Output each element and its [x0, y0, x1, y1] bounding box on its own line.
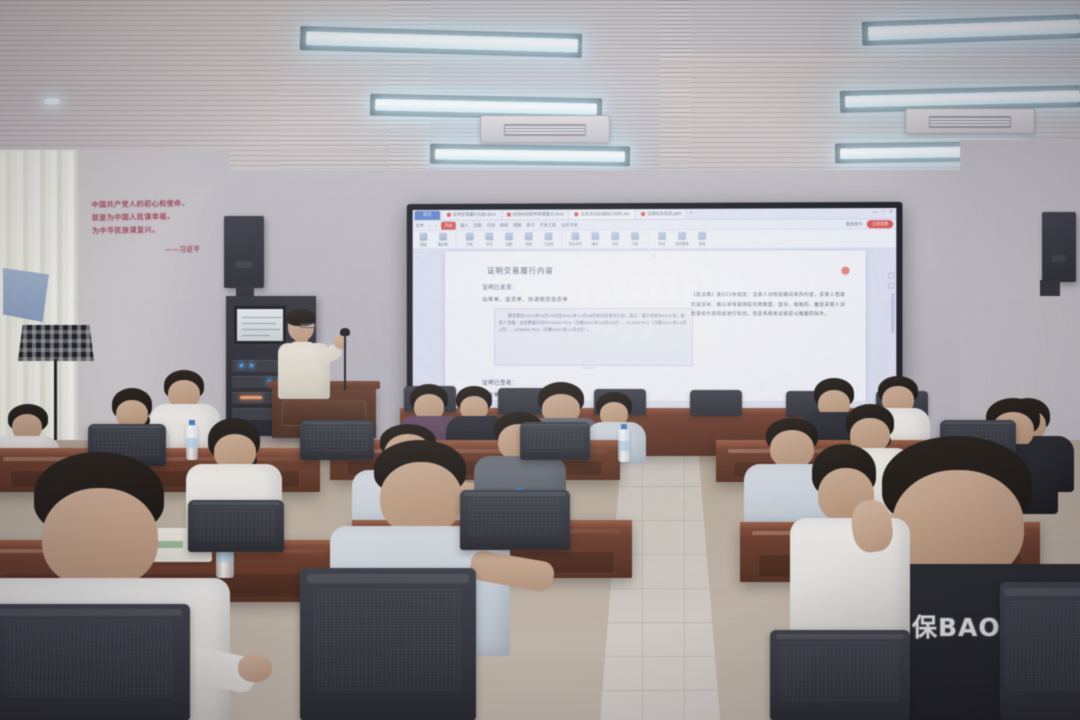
- audience-chair: [770, 630, 910, 720]
- font-icon: [466, 233, 474, 241]
- ribbon-button-styles[interactable]: 样式: [655, 232, 669, 246]
- ceiling-downlight: [44, 98, 60, 105]
- presenter: [276, 311, 338, 395]
- document-scrollbar[interactable]: [891, 293, 894, 333]
- comment-marker-icon[interactable]: [841, 267, 849, 275]
- paste-icon: [420, 233, 428, 241]
- ribbon-button-bullets[interactable]: 项目符号: [568, 232, 582, 246]
- audience-chair: [460, 490, 570, 550]
- wall-slogan: 中国共产党人的初心和使命， 就是为中国人民谋幸福， 为中华民族谋复兴。 ——习近…: [91, 197, 200, 258]
- side-display-panel: [3, 268, 49, 322]
- ribbon-button-numbering[interactable]: 编号: [588, 232, 602, 246]
- microphone-stand: [344, 332, 346, 390]
- app-home-tab[interactable]: 首页: [415, 210, 440, 219]
- menu-item-member[interactable]: 会员专享: [561, 222, 578, 228]
- format-painter-icon: [439, 233, 447, 241]
- doc-tab-icon: [641, 212, 645, 216]
- side-tool-icon[interactable]: [888, 283, 894, 289]
- menu-item-home[interactable]: 开始: [441, 221, 455, 229]
- wall-slogan-signature: ——习近平: [92, 243, 200, 258]
- underline-icon: [545, 232, 553, 240]
- font-size-icon: [485, 233, 493, 241]
- doc-tab[interactable]: 法律实务培训.pptx: [637, 209, 685, 218]
- app-ribbon: 粘贴 格式刷 字体 字号 加粗: [413, 229, 897, 249]
- section-1-body: 原告提交2021年10月29日至2021年11月18日的出库单共九份，显示：客户…: [495, 309, 692, 334]
- menu-item-nav-back[interactable]: ‹: [429, 223, 430, 228]
- menu-item-reference[interactable]: 引用: [487, 222, 495, 228]
- ribbon-button-bold[interactable]: 加粗: [502, 232, 516, 246]
- doc-tab-active[interactable]: 买卖合同证据指引材料.doc: [571, 210, 634, 219]
- right-wall-speaker: [1042, 212, 1076, 282]
- section-1-stars: * * * * *: [583, 367, 593, 371]
- conference-room-photo: 中国共产党人的初心和使命， 就是为中国人民谋幸福， 为中华民族谋复兴。 ——习近…: [0, 0, 1080, 720]
- ribbon-button-linespacing[interactable]: 行距: [628, 232, 642, 246]
- menu-item-section[interactable]: 章节: [526, 222, 534, 228]
- doc-tab[interactable]: 证明交易履行内容.docx: [443, 210, 500, 219]
- ribbon-button-format-painter[interactable]: 格式刷: [436, 233, 450, 247]
- doc-tab-label: 合同纠纷案件审理要点.docx: [512, 211, 563, 217]
- section-1-heading: 证明已发货：: [482, 283, 517, 291]
- bold-icon: [505, 232, 513, 240]
- menu-bar-right: 查找命令 立即续费: [846, 220, 894, 228]
- renew-button[interactable]: 立即续费: [867, 220, 893, 228]
- window-controls[interactable]: — □ ✕: [873, 209, 894, 215]
- ribbon-button-fontsize[interactable]: 字号: [482, 233, 496, 247]
- page-marker: 六: [652, 254, 656, 259]
- front-row-chair: [690, 390, 742, 416]
- styles-icon: [658, 232, 666, 240]
- audience-chair: [188, 500, 284, 552]
- doc-tab-label: 买卖合同证据指引材料.doc: [581, 211, 631, 217]
- menu-item-devtools[interactable]: 开发工具: [540, 222, 557, 228]
- find-replace-icon: [678, 232, 686, 240]
- ribbon-button-italic[interactable]: 倾斜: [522, 232, 536, 246]
- menu-item-insert[interactable]: 插入: [460, 222, 468, 228]
- legal-citation-column: 《民法典》第623条规定：当事人对检验期间未作约定，买受人签收的送货单、确认单等…: [691, 291, 847, 320]
- side-tool-icon[interactable]: [888, 273, 894, 279]
- presenter-glasses: [300, 323, 316, 328]
- ribbon-button-paste[interactable]: 粘贴: [417, 233, 431, 247]
- ribbon-button-align[interactable]: 对齐: [608, 232, 622, 246]
- line-spacing-icon: [631, 232, 639, 240]
- menu-item-page[interactable]: 页面: [473, 222, 481, 228]
- audience-chair: [520, 422, 590, 460]
- audience-person: [790, 444, 910, 634]
- command-search[interactable]: 查找命令: [846, 221, 863, 227]
- doc-tab-label: 证明交易履行内容.docx: [453, 212, 496, 218]
- doc-tab-icon: [507, 213, 511, 217]
- doc-tab-icon: [575, 212, 579, 216]
- wall-slogan-line: 中国共产党人的初心和使命，: [91, 197, 199, 212]
- doc-tab-label: 法律实务培训.pptx: [647, 211, 681, 217]
- doc-tab[interactable]: 合同纠纷案件审理要点.docx: [503, 210, 568, 219]
- close-icon[interactable]: ✕: [889, 209, 893, 215]
- doc-tab-icon: [447, 213, 451, 217]
- audience-chair: [0, 604, 190, 720]
- ribbon-button-select[interactable]: 选择: [695, 232, 709, 246]
- ribbon-button-underline[interactable]: 下划线: [542, 232, 556, 246]
- ceiling-ac-unit: [905, 108, 1035, 134]
- document-title: 证明交易履行内容: [487, 265, 553, 276]
- water-bottle: [618, 424, 630, 462]
- maximize-icon[interactable]: □: [882, 209, 885, 215]
- bullet-list-icon: [571, 232, 579, 240]
- section-1-evidence-box: 原告提交2021年10月29日至2021年11月18日的出库单共九份，显示：客户…: [494, 308, 693, 366]
- numbered-list-icon: [591, 232, 599, 240]
- menu-item-file[interactable]: 文件: [416, 222, 424, 228]
- italic-icon: [525, 232, 533, 240]
- select-icon: [698, 232, 706, 240]
- ribbon-button-find-replace[interactable]: 查找替换: [675, 232, 689, 246]
- menu-item-review[interactable]: 审阅: [500, 222, 508, 228]
- wall-slogan-line: 为中华民族谋复兴。: [92, 223, 200, 238]
- hand: [238, 654, 272, 682]
- left-wall-speaker: [224, 216, 264, 288]
- menu-item-view[interactable]: 视图: [513, 222, 521, 228]
- minimize-icon[interactable]: —: [873, 209, 878, 215]
- menu-item-nav-fwd[interactable]: ›: [435, 223, 436, 228]
- new-tab-button[interactable]: +: [689, 211, 693, 217]
- audience-chair: [1000, 582, 1080, 720]
- ribbon-button-font[interactable]: 字体: [463, 233, 477, 247]
- audience-chair: [300, 568, 476, 720]
- section-1-subheading: 出库单、送货单、快递物流信息单: [482, 296, 568, 303]
- align-icon: [611, 232, 619, 240]
- ceiling-ac-unit: [480, 115, 610, 143]
